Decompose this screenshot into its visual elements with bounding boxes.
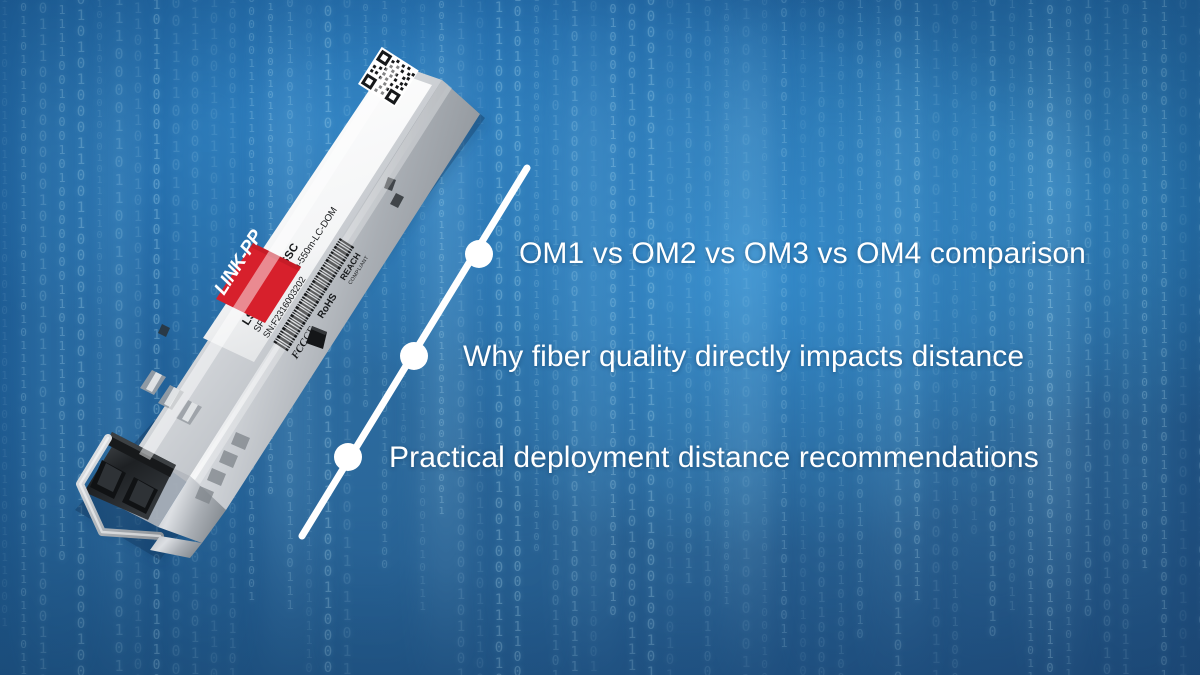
feature-item-1: OM1 vs OM2 vs OM3 vs OM4 comparison [519,237,1086,271]
banner-stage: 0011111011011011100111010101110101000101… [0,0,1200,675]
feature-list: OM1 vs OM2 vs OM3 vs OM4 comparison Why … [0,0,1200,675]
feature-item-3: Practical deployment distance recommenda… [389,441,1039,475]
feature-item-2: Why fiber quality directly impacts dista… [463,340,1024,374]
